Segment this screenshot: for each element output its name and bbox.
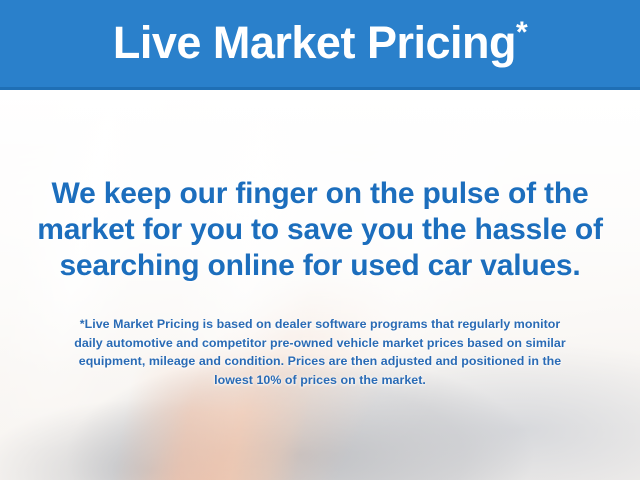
header-banner: Live Market Pricing* bbox=[0, 0, 640, 90]
headline-line-2: market for you to save you the hassle of bbox=[0, 212, 640, 248]
live-market-pricing-graphic: Live Market Pricing* We keep our finger … bbox=[0, 0, 640, 480]
headline-line-3: searching online for used car values. bbox=[0, 248, 640, 284]
disclaimer-block: *Live Market Pricing is based on dealer … bbox=[0, 315, 640, 389]
asterisk-marker: * bbox=[516, 16, 527, 49]
banner-title-text: Live Market Pricing bbox=[113, 17, 516, 68]
disclaimer-line-1: *Live Market Pricing is based on dealer … bbox=[0, 315, 640, 334]
disclaimer-line-2: daily automotive and competitor pre-owne… bbox=[0, 334, 640, 353]
disclaimer-line-4: lowest 10% of prices on the market. bbox=[0, 371, 640, 390]
headline-line-1: We keep our finger on the pulse of the bbox=[0, 176, 640, 212]
headline-block: We keep our finger on the pulse of the m… bbox=[0, 176, 640, 284]
banner-title: Live Market Pricing* bbox=[113, 20, 527, 65]
disclaimer-line-3: equipment, mileage and condition. Prices… bbox=[0, 352, 640, 371]
